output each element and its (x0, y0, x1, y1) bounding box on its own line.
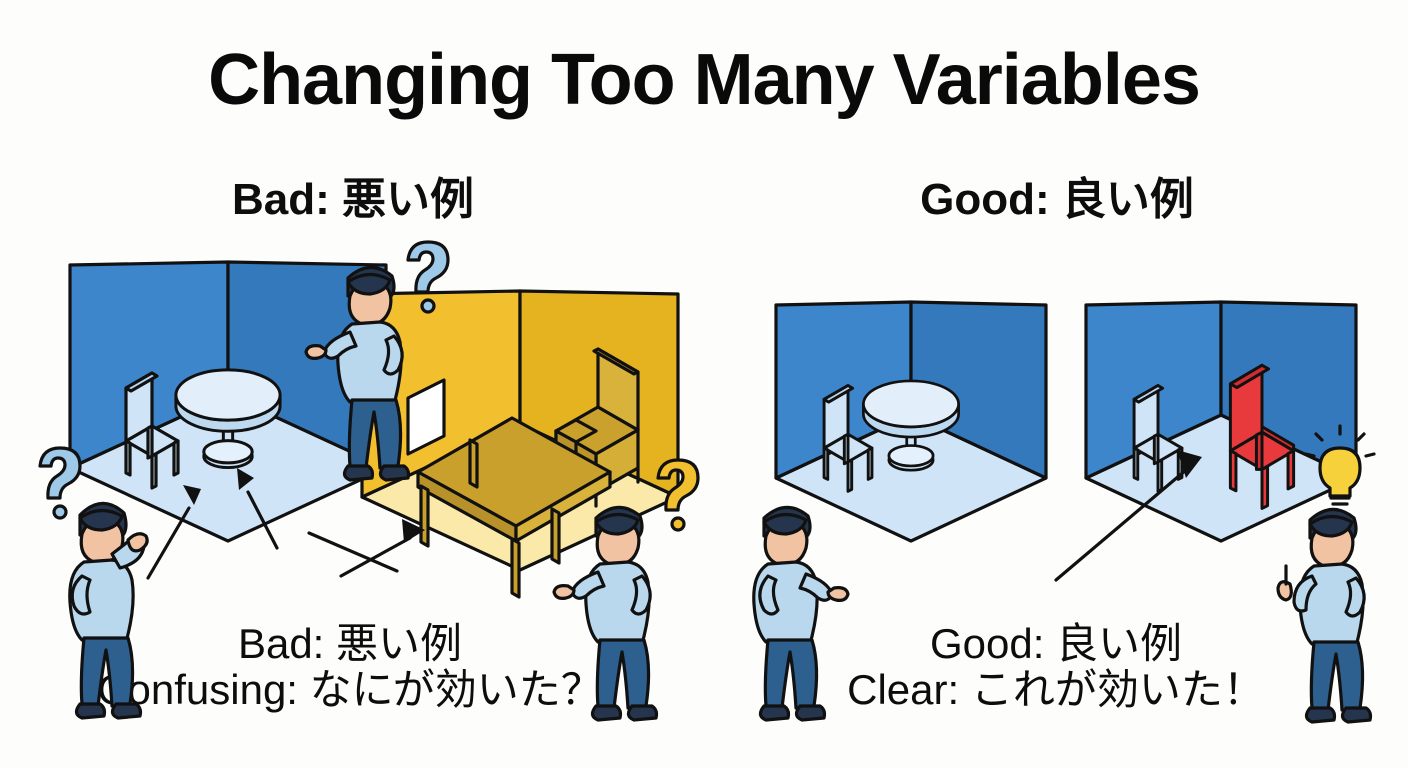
question-mark-icon (40, 448, 80, 518)
good-room-before (776, 302, 1046, 541)
illustration-stage: Changing Too Many Variables Bad: 悪い例 Goo… (0, 0, 1408, 768)
bad-room-before (70, 262, 386, 541)
good-room-after (1086, 302, 1356, 541)
good-person-left (754, 507, 848, 720)
isometric-artwork (0, 0, 1408, 768)
